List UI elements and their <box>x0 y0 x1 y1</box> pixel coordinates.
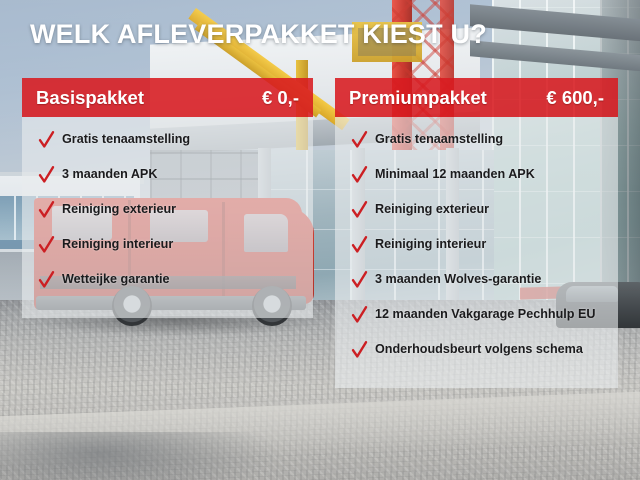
package-header-basispakket: Basispakket € 0,- <box>22 78 313 117</box>
slide-root: WELK AFLEVERPAKKET KIEST U? Basispakket … <box>0 0 640 480</box>
check-icon <box>38 165 55 185</box>
feature-label: Reiniging interieur <box>62 234 173 254</box>
page-title: WELK AFLEVERPAKKET KIEST U? <box>30 19 487 50</box>
check-icon <box>351 270 368 290</box>
feature-item: Onderhoudsbeurt volgens schema <box>335 339 618 374</box>
feature-label: Onderhoudsbeurt volgens schema <box>375 339 583 359</box>
feature-label: Gratis tenaamstelling <box>375 129 503 149</box>
feature-label: Reiniging interieur <box>375 234 486 254</box>
package-name: Premiumpakket <box>349 87 487 109</box>
check-icon <box>351 165 368 185</box>
feature-item: Reiniging interieur <box>22 234 313 269</box>
feature-label: 3 maanden APK <box>62 164 157 184</box>
feature-item: Reiniging exterieur <box>335 199 618 234</box>
package-feature-list-premiumpakket: Gratis tenaamstelling Minimaal 12 maande… <box>335 117 618 388</box>
feature-item: Minimaal 12 maanden APK <box>335 164 618 199</box>
feature-label: Reiniging exterieur <box>375 199 489 219</box>
package-card-basispakket[interactable]: Basispakket € 0,- Gratis tenaamstelling … <box>22 78 313 318</box>
check-icon <box>351 200 368 220</box>
feature-item: 3 maanden APK <box>22 164 313 199</box>
package-name: Basispakket <box>36 87 144 109</box>
feature-label: 3 maanden Wolves-garantie <box>375 269 541 289</box>
feature-label: Gratis tenaamstelling <box>62 129 190 149</box>
feature-item: Gratis tenaamstelling <box>22 129 313 164</box>
feature-label: 12 maanden Vakgarage Pechhulp EU <box>375 304 595 324</box>
package-feature-list-basispakket: Gratis tenaamstelling 3 maanden APK Rein… <box>22 117 313 318</box>
package-price: € 0,- <box>262 87 299 109</box>
package-header-premiumpakket: Premiumpakket € 600,- <box>335 78 618 117</box>
feature-item: Gratis tenaamstelling <box>335 129 618 164</box>
feature-item: Reiniging interieur <box>335 234 618 269</box>
feature-label: Reiniging exterieur <box>62 199 176 219</box>
package-price: € 600,- <box>546 87 604 109</box>
feature-item: 12 maanden Vakgarage Pechhulp EU <box>335 304 618 339</box>
feature-label: Wetteijke garantie <box>62 269 170 289</box>
check-icon <box>38 130 55 150</box>
check-icon <box>351 340 368 360</box>
check-icon <box>351 305 368 325</box>
feature-label: Minimaal 12 maanden APK <box>375 164 535 184</box>
check-icon <box>38 270 55 290</box>
check-icon <box>351 235 368 255</box>
check-icon <box>38 235 55 255</box>
check-icon <box>38 200 55 220</box>
feature-item: 3 maanden Wolves-garantie <box>335 269 618 304</box>
package-card-premiumpakket[interactable]: Premiumpakket € 600,- Gratis tenaamstell… <box>335 78 618 388</box>
feature-item: Wetteijke garantie <box>22 269 313 304</box>
check-icon <box>351 130 368 150</box>
feature-item: Reiniging exterieur <box>22 199 313 234</box>
